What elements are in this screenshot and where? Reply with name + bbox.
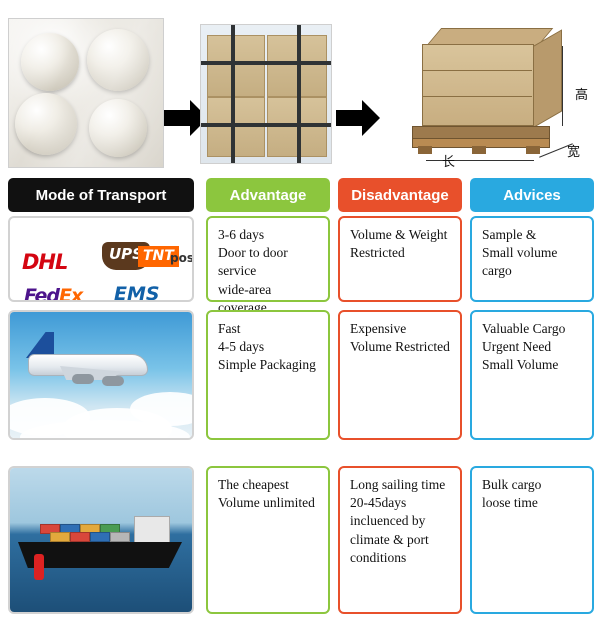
post-logo: post xyxy=(170,250,194,266)
row-air-freight-photo-cell xyxy=(8,310,194,440)
transport-comparison-diagram: 高 长 宽 Mode of Transport Advantage Disadv… xyxy=(0,0,602,624)
arrow-right-icon-2 xyxy=(336,100,380,136)
container-ship-photo xyxy=(10,468,192,612)
express-advices-cell: Sample & Small volume cargo xyxy=(470,216,594,302)
pallet-width-label: 宽 xyxy=(567,141,580,160)
header-advantage: Advantage xyxy=(206,178,330,212)
header-advices: Advices xyxy=(470,178,594,212)
sea-advices-cell: Bulk cargo loose time xyxy=(470,466,594,614)
strapped-carton-stack-photo xyxy=(200,24,332,164)
dhl-logo: DHL xyxy=(22,248,67,276)
row-sea-freight-photo-cell xyxy=(8,466,194,614)
express-disadvantage-cell: Volume & Weight Restricted xyxy=(338,216,462,302)
air-advices-cell: Valuable Cargo Urgent Need Small Volume xyxy=(470,310,594,440)
air-advantage-cell: Fast 4-5 days Simple Packaging xyxy=(206,310,330,440)
pallet-length-label: 长 xyxy=(442,151,455,170)
air-disadvantage-cell: Expensive Volume Restricted xyxy=(338,310,462,440)
pallet-height-label: 高 xyxy=(575,84,588,103)
airplane-photo xyxy=(10,312,192,438)
express-advantage-cell: 3-6 days Door to door service wide-area … xyxy=(206,216,330,302)
palletized-cargo-diagram: 高 长 宽 xyxy=(386,10,596,178)
header-mode-of-transport: Mode of Transport xyxy=(8,178,194,212)
sea-disadvantage-cell: Long sailing time 20-45days incluenced b… xyxy=(338,466,462,614)
bubble-wrapped-spheres-photo xyxy=(8,18,164,168)
ems-logo: EMS xyxy=(114,282,160,302)
header-disadvantage: Disadvantage xyxy=(338,178,462,212)
row-express-logos-cell: DHL UPS TNT post FedEx EMS xyxy=(8,216,194,302)
sea-advantage-cell: The cheapest Volume unlimited xyxy=(206,466,330,614)
fedex-logo: FedEx xyxy=(24,284,82,302)
top-image-row: 高 长 宽 xyxy=(0,0,602,178)
